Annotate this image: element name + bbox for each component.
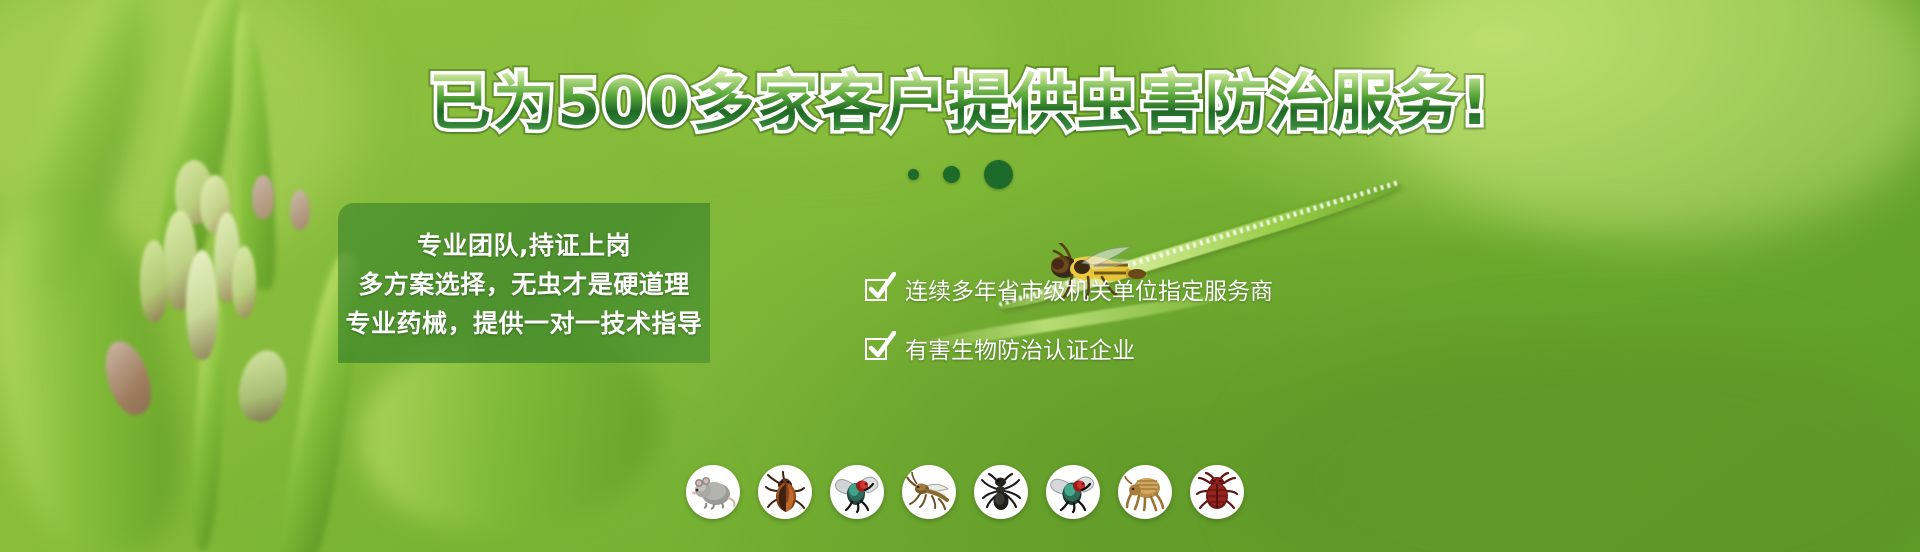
pest-icon-item[interactable] bbox=[686, 465, 740, 519]
headline-text: 已为500多家客户提供虫害防治服务! bbox=[429, 66, 1491, 139]
selling-point-line: 专业团队,持证上岗 bbox=[417, 226, 631, 262]
decorative-dots bbox=[0, 160, 1920, 189]
pest-icon-strip bbox=[686, 465, 1244, 519]
pest-icon-item[interactable] bbox=[830, 465, 884, 519]
bedbug-icon bbox=[1195, 471, 1239, 513]
background-bokeh bbox=[1250, 330, 1920, 552]
dot-large-icon bbox=[984, 160, 1013, 189]
selling-point-line: 专业药械，提供一对一技术指导 bbox=[345, 304, 702, 340]
mosquito-icon bbox=[906, 471, 952, 513]
pest-icon-item[interactable] bbox=[974, 465, 1028, 519]
plant-bud bbox=[97, 336, 159, 421]
fly-icon bbox=[834, 471, 880, 513]
background-bokeh bbox=[180, 400, 700, 552]
pest-icon-item[interactable] bbox=[902, 465, 956, 519]
credentials-list: 连续多年省市级机关单位指定服务商 有害生物防治认证企业 bbox=[865, 272, 1273, 365]
pest-icon-item[interactable] bbox=[1046, 465, 1100, 519]
plant-bud bbox=[232, 246, 256, 318]
plant-bud bbox=[186, 250, 218, 360]
pest-icon-item[interactable] bbox=[1118, 465, 1172, 519]
checkbox-checked-icon bbox=[865, 276, 891, 302]
headline: 已为500多家客户提供虫害防治服务! 已为500多家客户提供虫害防治服务! 已为… bbox=[0, 72, 1920, 134]
selling-point-line: 多方案选择，无虫才是硬道理 bbox=[358, 265, 690, 301]
credential-label: 有害生物防治认证企业 bbox=[905, 331, 1135, 365]
ant-icon bbox=[979, 471, 1023, 513]
promo-banner: 已为500多家客户提供虫害防治服务! 已为500多家客户提供虫害防治服务! 已为… bbox=[0, 0, 1920, 552]
pest-icon-item[interactable] bbox=[758, 465, 812, 519]
plant-bud bbox=[233, 346, 293, 426]
plant-bud bbox=[290, 190, 310, 230]
selling-points-list: 专业团队,持证上岗 多方案选择，无虫才是硬道理 专业药械，提供一对一技术指导 bbox=[338, 203, 710, 363]
credential-label: 连续多年省市级机关单位指定服务商 bbox=[905, 272, 1273, 306]
flea-icon bbox=[1123, 471, 1167, 513]
cockroach-icon bbox=[763, 471, 807, 513]
blowfly-icon bbox=[1050, 471, 1096, 513]
dot-medium-icon bbox=[943, 166, 960, 183]
pest-icon-item[interactable] bbox=[1190, 465, 1244, 519]
credential-item: 有害生物防治认证企业 bbox=[865, 331, 1273, 365]
plant-bud bbox=[140, 240, 168, 322]
credential-item: 连续多年省市级机关单位指定服务商 bbox=[865, 272, 1273, 306]
checkbox-checked-icon bbox=[865, 335, 891, 361]
mouse-icon bbox=[690, 472, 736, 512]
dot-small-icon bbox=[908, 169, 919, 180]
